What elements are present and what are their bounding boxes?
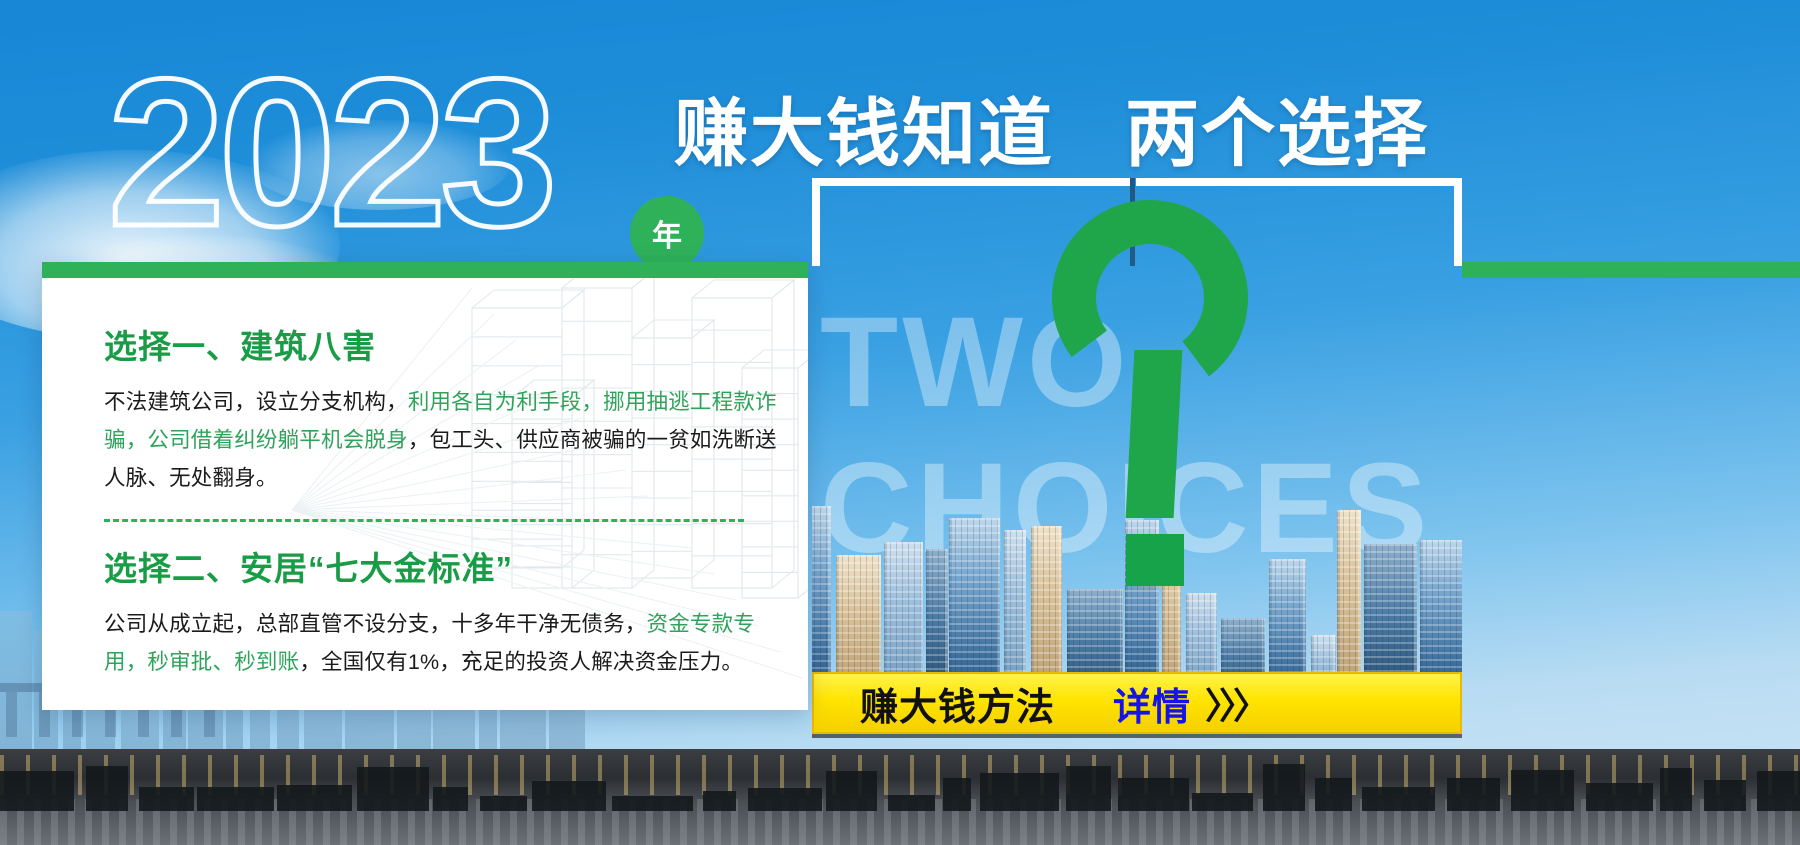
chevron-right-icon: 〉〉〉 [1205,677,1265,729]
section-body: 公司从成立起，总部直管不设分支，十多年干净无债务，资金专款专用，秒审批、秒到账，… [104,605,794,681]
section-title: 选择二、安居“七大金标准” [104,542,768,590]
body-run: 公司从成立起，总部直管不设分支，十多年干净无债务， [104,612,647,636]
headline-part-2: 两个选择 [1125,92,1429,175]
year-unit-badge: 年 [630,196,704,270]
card-accent-bar [42,262,808,278]
cta-bar[interactable]: 赚大钱方法 详情 〉〉〉 [812,672,1462,734]
headline-part-1: 赚大钱知道 [674,92,1054,175]
question-mark-icon [1044,200,1264,630]
section-choice-two: 选择二、安居“七大金标准” 公司从成立起，总部直管不设分支，十多年干净无债务，资… [104,542,768,681]
card-body: 选择一、建筑八害 不法建筑公司，设立分支机构，利用各自为利手段，挪用抽逃工程款诈… [42,278,808,710]
body-run: 不法建筑公司，设立分支机构， [104,390,408,414]
content-card: 选择一、建筑八害 不法建筑公司，设立分支机构，利用各自为利手段，挪用抽逃工程款诈… [42,262,808,710]
choices-panel: TWO CHOICES [812,186,1462,706]
section-divider [104,519,744,522]
section-body: 不法建筑公司，设立分支机构，利用各自为利手段，挪用抽逃工程款诈骗，公司借着纠纷躺… [104,383,794,497]
bottom-waterfront-strip [0,749,1800,845]
body-run: ，全国仅有1%，充足的投资人解决资金压力。 [299,650,743,674]
cta-detail-link[interactable]: 详情 [1113,676,1191,731]
year-headline: 2023 [108,48,551,258]
section-title: 选择一、建筑八害 [104,320,768,368]
section-choice-one: 选择一、建筑八害 不法建筑公司，设立分支机构，利用各自为利手段，挪用抽逃工程款诈… [104,320,768,497]
cta-label: 赚大钱方法 [860,676,1055,731]
poster-canvas: 2023 年 赚大钱知道 两个选择 TWO CHOICES 赚大钱方法 详情 〉… [0,0,1800,845]
accent-bar-right [1462,262,1800,278]
page-title: 赚大钱知道 两个选择 [674,74,1429,181]
headline-underline [812,178,1462,186]
